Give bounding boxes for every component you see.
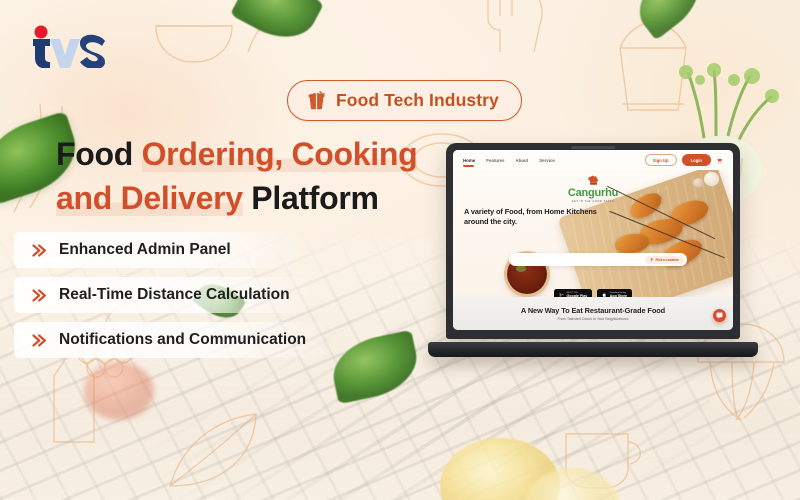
laptop-camera-notch xyxy=(571,146,615,149)
site-navbar: Home Features About Service Sign Up Logi… xyxy=(453,150,733,170)
site-nav-links: Home Features About Service xyxy=(463,158,555,163)
double-chevron-right-icon xyxy=(30,332,47,349)
shopping-cart-icon[interactable] xyxy=(716,157,723,164)
feature-label: Real-Time Distance Calculation xyxy=(59,286,290,304)
login-button[interactable]: Login xyxy=(682,154,711,165)
site-search-bar[interactable]: Find a Location xyxy=(509,253,687,266)
feature-item-distance-calculation[interactable]: Real-Time Distance Calculation xyxy=(14,277,308,313)
tomato-accent xyxy=(84,362,154,420)
site-brand-tagline: GET IN THE GOOD TASTE xyxy=(453,200,733,203)
band-subtitle: From Talented Cooks In Your Neighborhood xyxy=(558,317,629,321)
laptop-screen: Home Features About Service Sign Up Logi… xyxy=(453,150,733,330)
nav-link-about[interactable]: About xyxy=(516,158,529,163)
promo-banner: Food Tech Industry Food Ordering, Cookin… xyxy=(0,0,800,500)
band-title: A New Way To Eat Restaurant-Grade Food xyxy=(521,306,665,315)
laptop-mockup: Home Features About Service Sign Up Logi… xyxy=(428,143,758,355)
feature-label: Notifications and Communication xyxy=(59,331,306,349)
site-hero-heading: A variety of Food, from Home Kitchens ar… xyxy=(464,207,609,227)
double-chevron-right-icon xyxy=(30,242,47,259)
site-brand: Cangurhu GET IN THE GOOD TASTE xyxy=(453,175,733,203)
laptop-lid: Home Features About Service Sign Up Logi… xyxy=(446,143,740,339)
industry-badge[interactable]: Food Tech Industry xyxy=(287,80,522,121)
site-hero-section: Home Features About Service Sign Up Logi… xyxy=(453,150,733,302)
takeout-box-icon xyxy=(306,90,327,111)
nav-link-service[interactable]: Service xyxy=(539,158,555,163)
headline-plain-1: Food xyxy=(56,136,142,172)
laptop-base xyxy=(428,342,758,357)
headline-accent-2: and Delivery xyxy=(56,180,243,216)
website-preview: Home Features About Service Sign Up Logi… xyxy=(453,150,733,330)
headline-accent-1: Ordering, Cooking xyxy=(142,136,418,172)
page-title: Food Ordering, Cooking and Delivery Plat… xyxy=(56,132,456,220)
signup-button[interactable]: Sign Up xyxy=(645,154,677,166)
find-location-label: Find a Location xyxy=(655,258,679,262)
feature-item-admin-panel[interactable]: Enhanced Admin Panel xyxy=(14,232,298,268)
headline-plain-2: Platform xyxy=(243,180,379,216)
chef-hat-icon xyxy=(587,175,600,187)
nav-active-underline xyxy=(463,165,474,167)
nav-link-home[interactable]: Home xyxy=(463,158,475,163)
site-bottom-band: A New Way To Eat Restaurant-Grade Food F… xyxy=(453,297,733,330)
chat-bubble-icon xyxy=(716,312,723,319)
tws-logo[interactable] xyxy=(22,24,108,68)
find-location-button[interactable]: Find a Location xyxy=(645,256,684,264)
chat-widget-button[interactable] xyxy=(713,309,726,322)
industry-badge-label: Food Tech Industry xyxy=(336,90,499,111)
nav-link-features[interactable]: Features xyxy=(486,158,504,163)
site-nav-actions: Sign Up Login xyxy=(645,154,723,166)
site-brand-name: Cangurhu xyxy=(453,188,733,199)
location-pin-icon xyxy=(650,258,653,261)
feature-label: Enhanced Admin Panel xyxy=(59,241,231,259)
double-chevron-right-icon xyxy=(30,287,47,304)
feature-item-notifications[interactable]: Notifications and Communication xyxy=(14,322,324,358)
logo-dot-icon xyxy=(35,26,48,39)
feature-list: Enhanced Admin Panel Real-Time Distance … xyxy=(14,232,354,358)
